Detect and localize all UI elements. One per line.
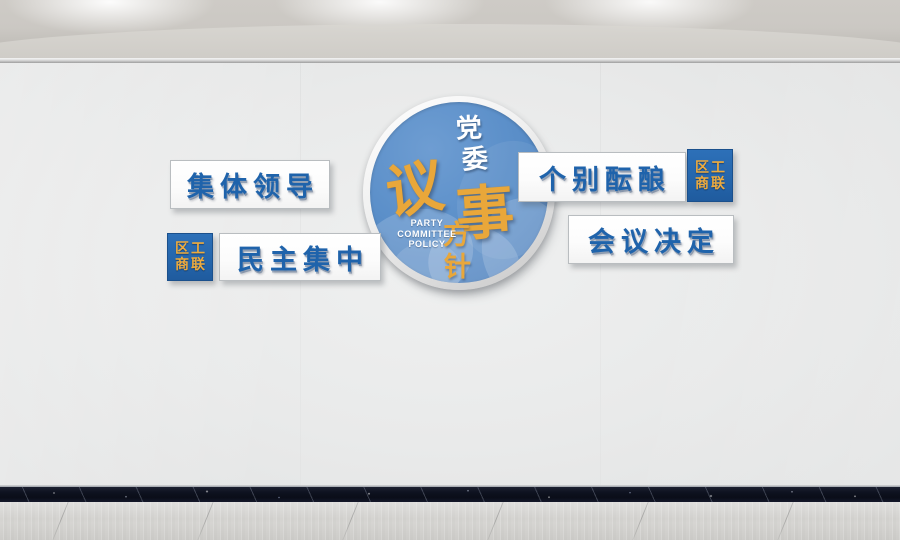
- badge-char-qu: 区: [175, 241, 189, 257]
- badge-right[interactable]: 区 工 商 联: [687, 149, 733, 202]
- baseboard-veining: [0, 487, 900, 502]
- english-line-2: COMMITTEE: [396, 229, 458, 240]
- emblem-char-dang: 党: [455, 115, 482, 142]
- english-line-1: PARTY: [396, 218, 458, 229]
- badge-char-lian: 联: [191, 257, 205, 273]
- badge-char-shang: 商: [175, 257, 189, 273]
- emblem-char-zhen: 针: [444, 254, 471, 281]
- emblem-char-wei: 委: [461, 146, 488, 173]
- plate-label: 集体领导: [181, 165, 319, 204]
- badge-text-grid: 区 工 商 联: [695, 160, 725, 192]
- wall-scene: 议 事 党 委 方 针 PARTY COMMITTEE POLICY 集体领导 …: [0, 0, 900, 540]
- plate-label: 个别酝酿: [533, 158, 671, 197]
- badge-char-gong: 工: [191, 241, 205, 257]
- english-line-3: POLICY: [396, 239, 458, 250]
- plate-label: 民主集中: [231, 238, 369, 277]
- badge-text-grid: 区 工 商 联: [175, 241, 205, 273]
- emblem-char-yi: 议: [383, 155, 446, 223]
- badge-left[interactable]: 区 工 商 联: [167, 233, 213, 281]
- plate-individual-deliberation[interactable]: 个别酝酿: [518, 152, 686, 202]
- badge-char-shang: 商: [695, 176, 709, 192]
- floor-reflection: [0, 502, 900, 540]
- badge-char-qu: 区: [695, 160, 709, 176]
- plate-label: 会议决定: [582, 220, 720, 259]
- wall-panel-seam: [600, 63, 601, 487]
- plate-meeting-decision[interactable]: 会议决定: [568, 215, 734, 264]
- emblem-english-caption: PARTY COMMITTEE POLICY: [396, 218, 458, 250]
- plate-collective-leadership[interactable]: 集体领导: [170, 160, 330, 209]
- badge-char-lian: 联: [711, 176, 725, 192]
- badge-char-gong: 工: [711, 160, 725, 176]
- plate-democratic-centralism[interactable]: 民主集中: [219, 233, 381, 281]
